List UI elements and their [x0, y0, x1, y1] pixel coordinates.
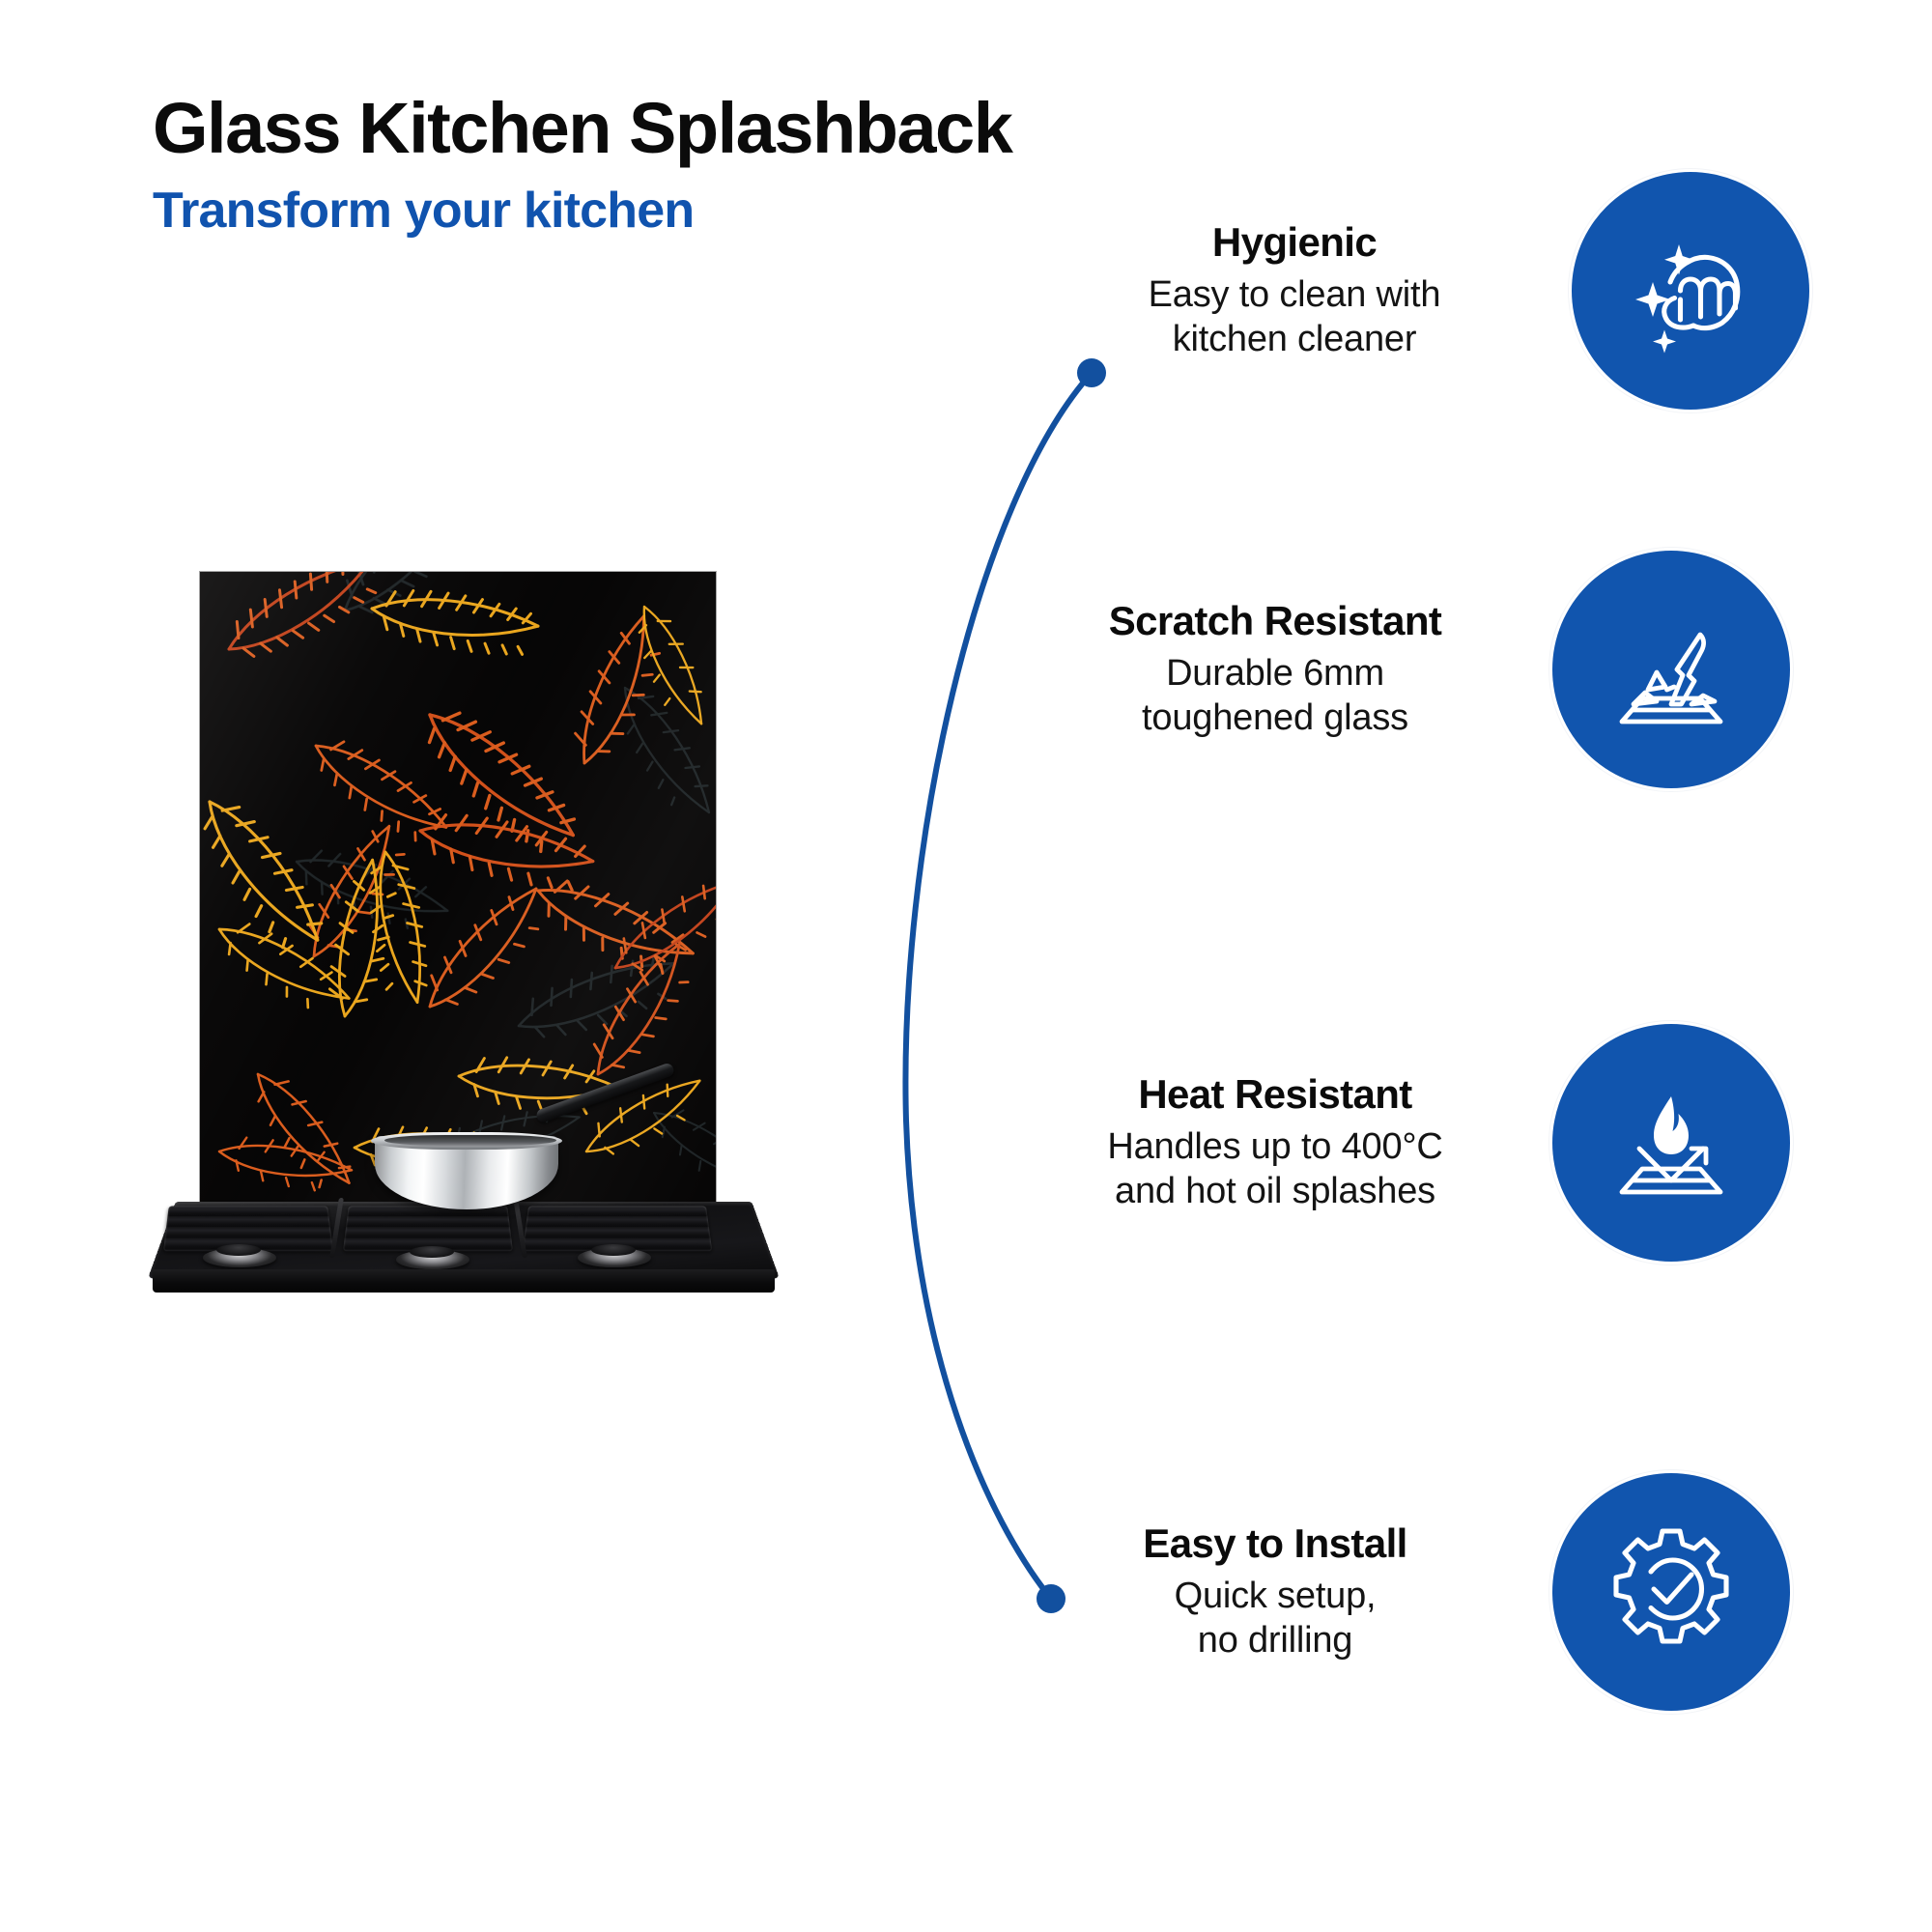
- knife-scratch-surface-icon: [1552, 551, 1790, 788]
- feature-text: Hygienic Easy to clean withkitchen clean…: [1067, 220, 1521, 362]
- feature-title: Hygienic: [1067, 220, 1521, 265]
- page-title: Glass Kitchen Splashback: [153, 93, 1312, 164]
- feature-text: Easy to Install Quick setup,no drilling: [1048, 1521, 1502, 1663]
- feature-easy-to-install[interactable]: Easy to Install Quick setup,no drilling: [1048, 1473, 1790, 1711]
- flame-deflect-surface-icon: [1552, 1024, 1790, 1262]
- feature-heat-resistant[interactable]: Heat Resistant Handles up to 400°Cand ho…: [1048, 1024, 1790, 1262]
- feature-title: Easy to Install: [1048, 1521, 1502, 1566]
- feature-description: Handles up to 400°Cand hot oil splashes: [1048, 1124, 1502, 1214]
- feature-title: Heat Resistant: [1048, 1072, 1502, 1117]
- gear-check-icon: [1552, 1473, 1790, 1711]
- feature-hygienic[interactable]: Hygienic Easy to clean withkitchen clean…: [1067, 172, 1809, 410]
- feature-title: Scratch Resistant: [1048, 599, 1502, 643]
- infographic-page: Glass Kitchen Splashback Transform your …: [0, 0, 1932, 1932]
- feature-scratch-resistant[interactable]: Scratch Resistant Durable 6mmtoughened g…: [1048, 551, 1790, 788]
- saucepan: [375, 1128, 578, 1221]
- feature-text: Heat Resistant Handles up to 400°Cand ho…: [1048, 1072, 1502, 1214]
- leaf-pattern: [200, 572, 716, 1215]
- feature-description: Quick setup,no drilling: [1048, 1574, 1502, 1663]
- feature-text: Scratch Resistant Durable 6mmtoughened g…: [1048, 599, 1502, 741]
- feature-description: Easy to clean withkitchen cleaner: [1067, 272, 1521, 362]
- hand-wipe-sparkle-icon: [1572, 172, 1809, 410]
- splashback-panel: [200, 572, 716, 1215]
- product-image: [145, 551, 908, 1323]
- feature-description: Durable 6mmtoughened glass: [1048, 651, 1502, 741]
